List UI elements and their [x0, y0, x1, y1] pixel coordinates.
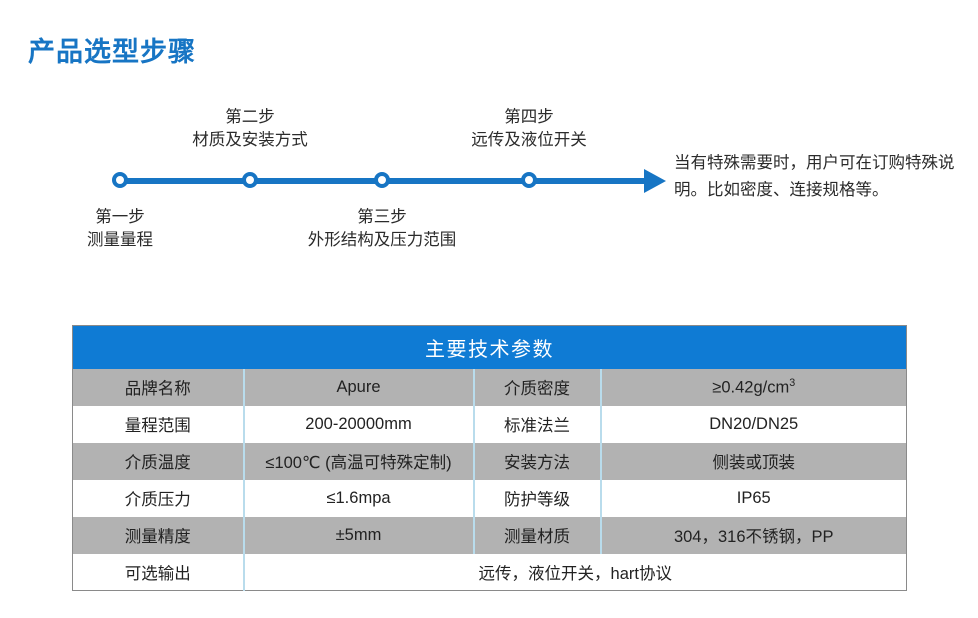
timeline-dot-step-2[interactable] — [242, 172, 258, 188]
row-4-label2: 防护等级 — [474, 480, 601, 517]
timeline-note-text: 当有特殊需要时，用户可在订购特殊说明。比如密度、连接规格等。 — [674, 150, 964, 203]
row-6-value: 远传，液位开关，hart协议 — [244, 554, 907, 591]
page-root: 产品选型步骤 第一步 测量量程 第二步 材质及安装方式 第三步 外形结构及压力范… — [0, 0, 978, 618]
table-title-cell: 主要技术参数 — [73, 326, 907, 369]
table-row: 品牌名称 Apure 介质密度 ≥0.42g/cm3 — [73, 369, 907, 406]
row-3-label2: 安装方法 — [474, 443, 601, 480]
table-header-row: 主要技术参数 — [73, 326, 907, 369]
row-5-label: 测量精度 — [73, 517, 244, 554]
timeline-dot-step-1[interactable] — [112, 172, 128, 188]
step-3-desc: 外形结构及压力范围 — [262, 229, 502, 252]
timeline-arrow-icon — [644, 169, 666, 193]
step-3-name: 第三步 — [262, 206, 502, 229]
table-row: 介质压力 ≤1.6mpa 防护等级 IP65 — [73, 480, 907, 517]
row-1-value: Apure — [244, 369, 474, 406]
row-1-value2: ≥0.42g/cm3 — [601, 369, 907, 406]
row-1-label: 品牌名称 — [73, 369, 244, 406]
table-row: 测量精度 ±5mm 测量材质 304，316不锈钢，PP — [73, 517, 907, 554]
row-5-label2: 测量材质 — [474, 517, 601, 554]
row-3-value2: 侧装或顶装 — [601, 443, 907, 480]
row-1-label2: 介质密度 — [474, 369, 601, 406]
step-2-desc: 材质及安装方式 — [130, 129, 370, 152]
table-row: 量程范围 200-20000mm 标准法兰 DN20/DN25 — [73, 406, 907, 443]
step-1-name: 第一步 — [0, 206, 240, 229]
step-4-name: 第四步 — [409, 106, 649, 129]
timeline-dot-step-3[interactable] — [374, 172, 390, 188]
timeline-label-step-1: 第一步 测量量程 — [0, 206, 240, 253]
step-1-desc: 测量量程 — [0, 229, 240, 252]
step-2-name: 第二步 — [130, 106, 370, 129]
row-2-label2: 标准法兰 — [474, 406, 601, 443]
timeline-label-step-4: 第四步 远传及液位开关 — [409, 106, 649, 153]
table-row: 介质温度 ≤100℃ (高温可特殊定制) 安装方法 侧装或顶装 — [73, 443, 907, 480]
row-3-label: 介质温度 — [73, 443, 244, 480]
row-2-value2: DN20/DN25 — [601, 406, 907, 443]
row-2-value: 200-20000mm — [244, 406, 474, 443]
row-4-value2: IP65 — [601, 480, 907, 517]
table-row: 可选输出 远传，液位开关，hart协议 — [73, 554, 907, 591]
timeline-label-step-3: 第三步 外形结构及压力范围 — [262, 206, 502, 253]
timeline-dot-step-4[interactable] — [521, 172, 537, 188]
row-5-value2: 304，316不锈钢，PP — [601, 517, 907, 554]
row-6-label: 可选输出 — [73, 554, 244, 591]
row-4-value: ≤1.6mpa — [244, 480, 474, 517]
row-2-label: 量程范围 — [73, 406, 244, 443]
page-title: 产品选型步骤 — [28, 30, 196, 69]
main-technical-parameters-table: 主要技术参数 品牌名称 Apure 介质密度 ≥0.42g/cm3 量程范围 2… — [72, 325, 907, 591]
row-3-value: ≤100℃ (高温可特殊定制) — [244, 443, 474, 480]
step-4-desc: 远传及液位开关 — [409, 129, 649, 152]
row-4-label: 介质压力 — [73, 480, 244, 517]
row-5-value: ±5mm — [244, 517, 474, 554]
spec-table-container: 主要技术参数 品牌名称 Apure 介质密度 ≥0.42g/cm3 量程范围 2… — [72, 325, 906, 591]
timeline-label-step-2: 第二步 材质及安装方式 — [130, 106, 370, 153]
